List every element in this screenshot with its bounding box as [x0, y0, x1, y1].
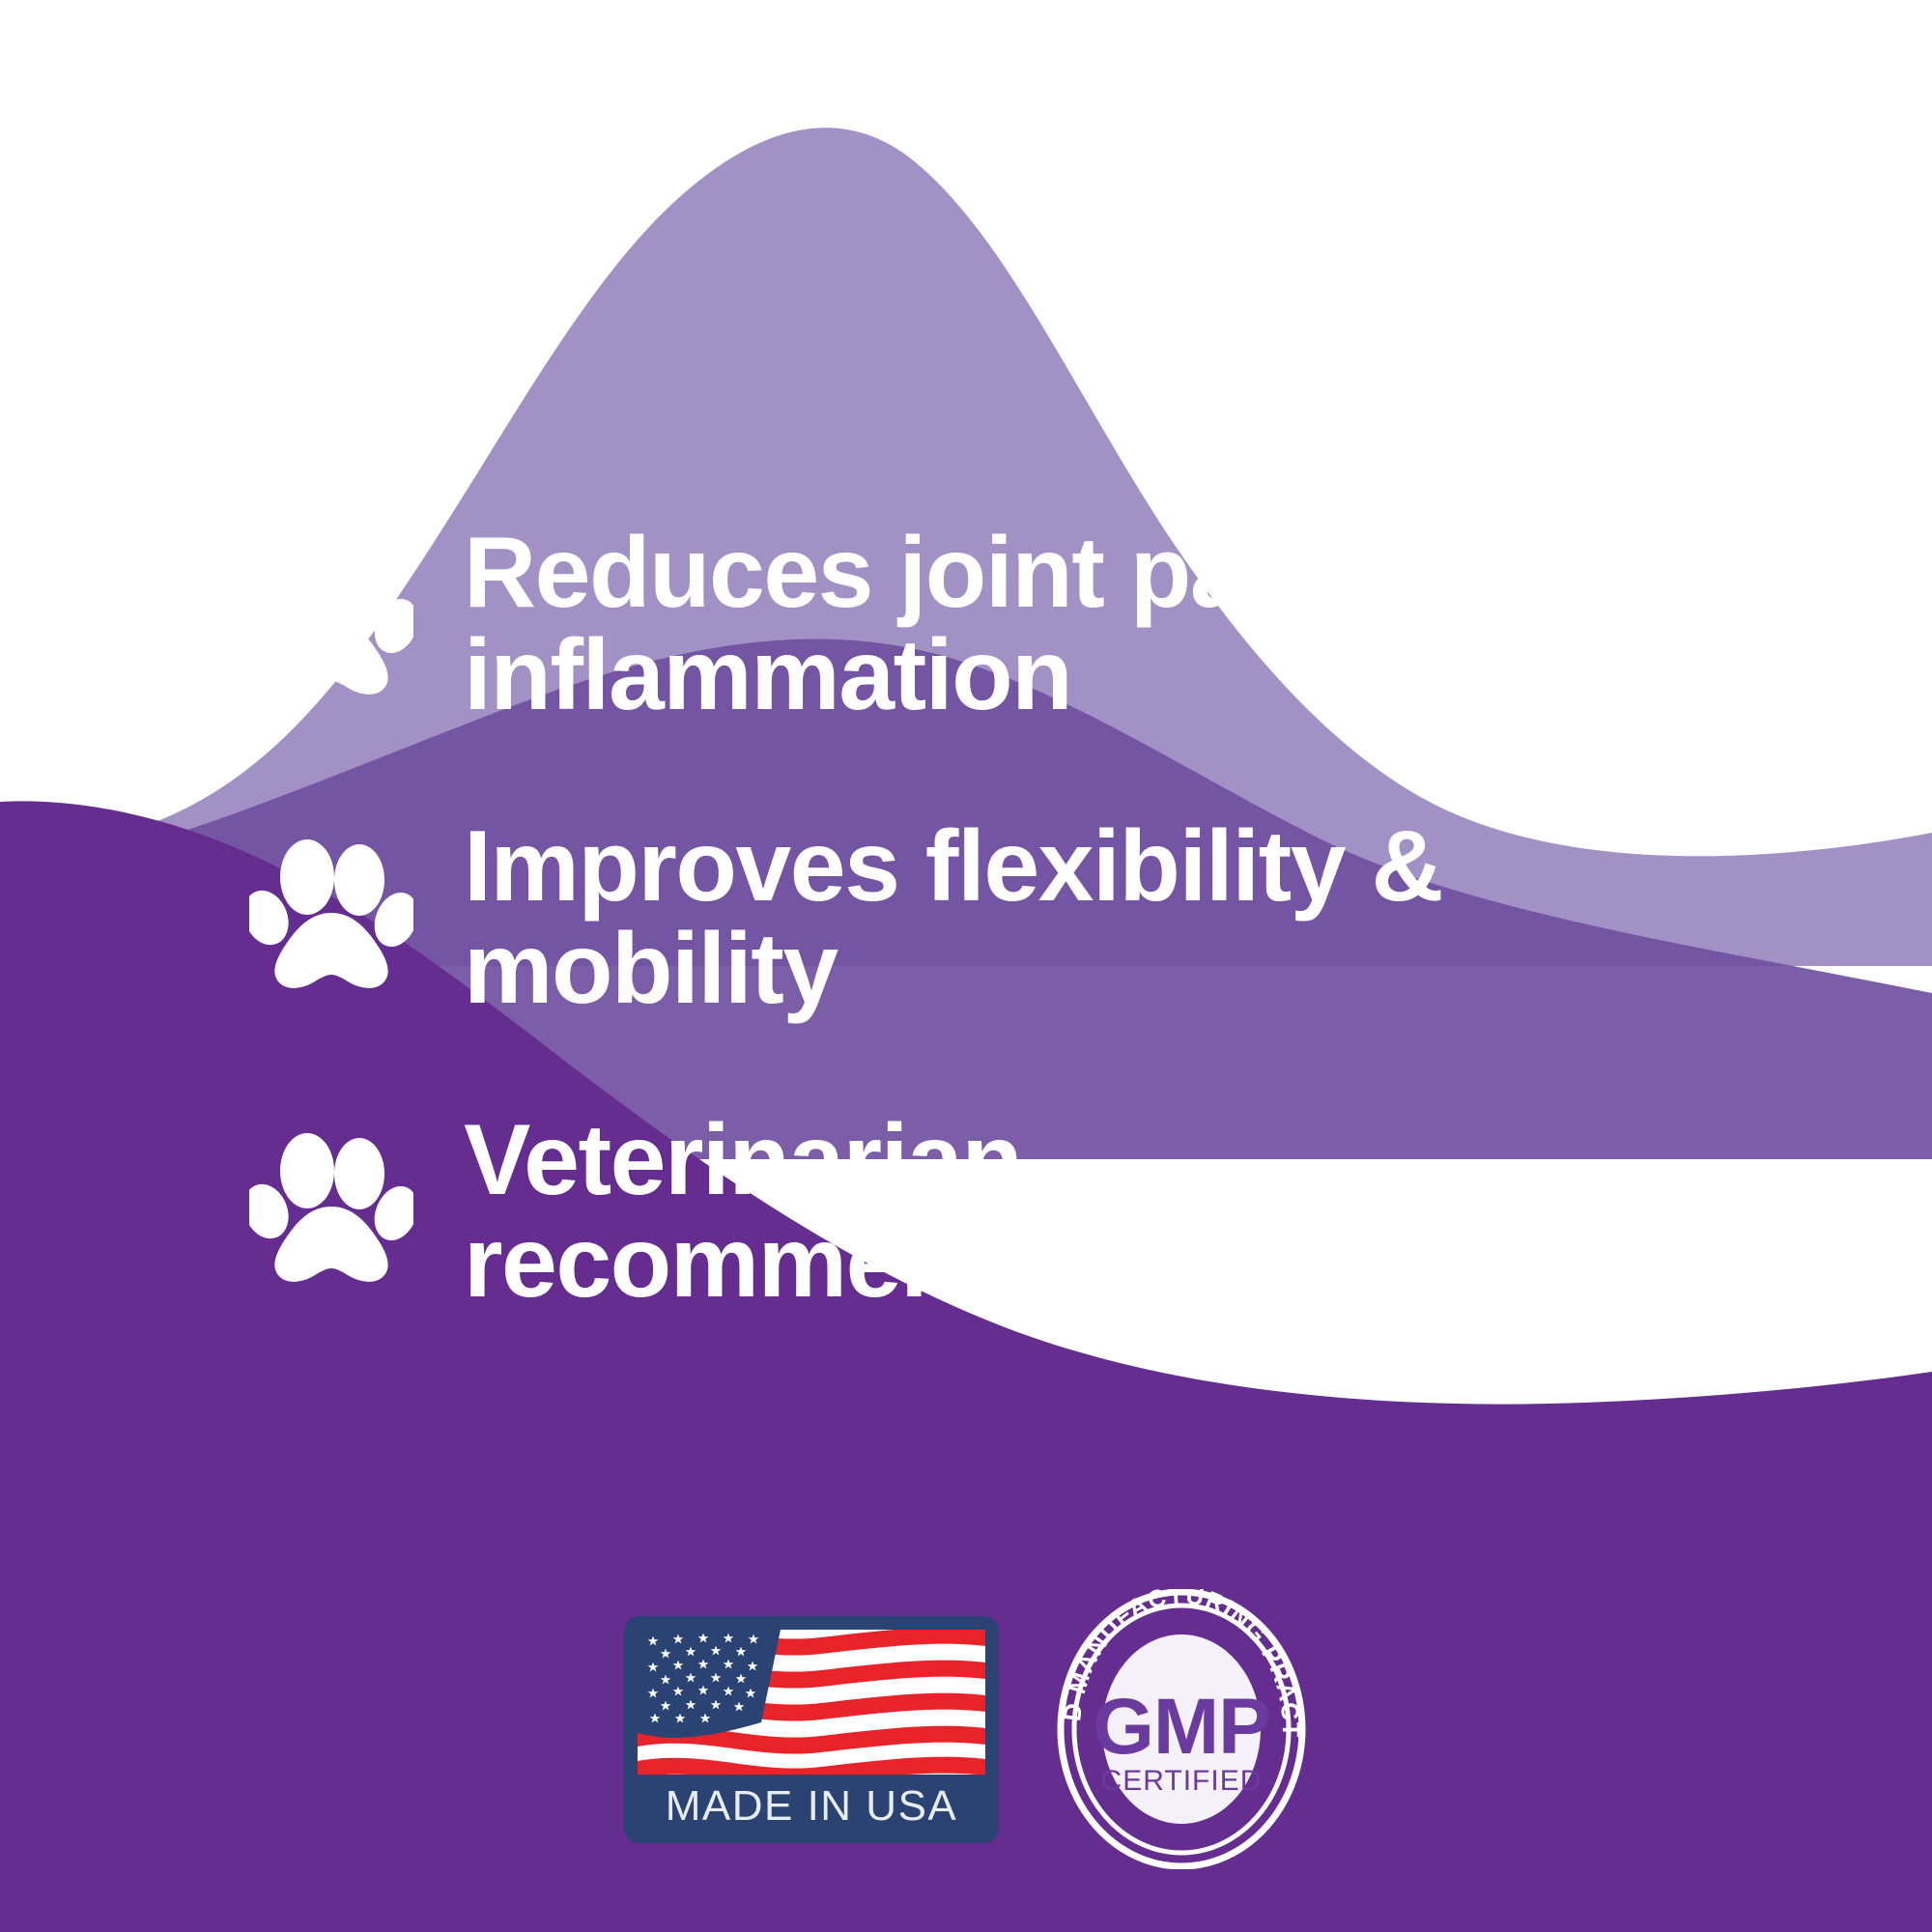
benefit-item: Improves flexibility & mobility — [0, 815, 1932, 1020]
us-flag-icon — [638, 1630, 985, 1775]
trust-badges-row: MADE IN USA GOOD MANUFACTURING PRACTICE — [0, 1589, 1932, 1869]
paw-print-icon — [249, 1130, 413, 1287]
made-in-usa-badge: MADE IN USA — [624, 1616, 999, 1843]
paw-print-icon — [249, 837, 413, 993]
promo-graphic-canvas: Reduces joint pain & inflammation Improv… — [0, 0, 1932, 1932]
benefits-list: Reduces joint pain & inflammation Improv… — [0, 522, 1932, 1403]
benefit-item: Veterinarian recommended — [0, 1109, 1932, 1314]
benefit-label: Improves flexibility & mobility — [464, 815, 1690, 1020]
benefit-item: Reduces joint pain & inflammation — [0, 522, 1932, 726]
gmp-acronym-text: GMP — [1093, 1683, 1270, 1771]
gmp-seal-icon: GOOD MANUFACTURING PRACTICE GMP CERTIFIE… — [1055, 1589, 1308, 1869]
made-in-usa-label: MADE IN USA — [624, 1785, 999, 1828]
paw-print-icon — [249, 543, 413, 699]
gmp-subtitle-text: CERTIFIED — [1101, 1765, 1263, 1797]
benefit-label: Veterinarian recommended — [464, 1109, 1690, 1314]
benefit-label: Reduces joint pain & inflammation — [464, 522, 1690, 726]
gmp-certified-badge: GOOD MANUFACTURING PRACTICE GMP CERTIFIE… — [1055, 1589, 1308, 1869]
